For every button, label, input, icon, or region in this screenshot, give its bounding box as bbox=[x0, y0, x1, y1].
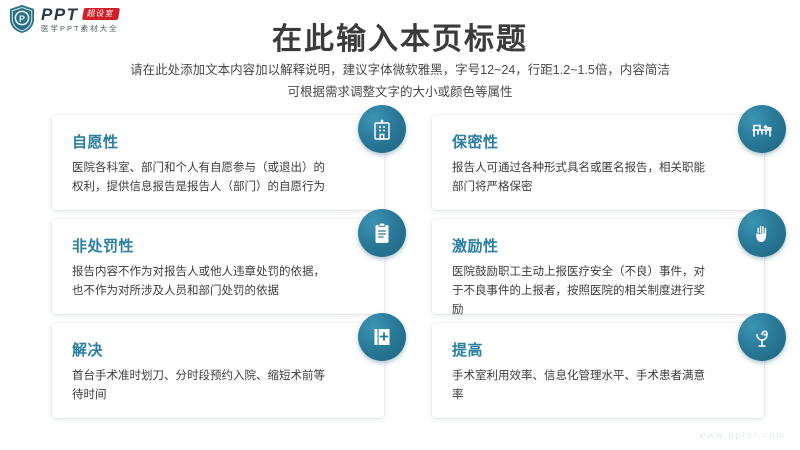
card-title: 自愿性 bbox=[72, 131, 332, 152]
card-item[interactable]: 非处罚性 报告内容不作为对报告人或他人违章处罚的依据，也不作为对所涉及人员和部门… bbox=[52, 219, 384, 314]
open-hand-icon bbox=[738, 209, 786, 257]
clipboard-icon bbox=[358, 209, 406, 257]
card-item[interactable]: 自愿性 医院各科室、部门和个人有自愿参与（或退出）的权利，提供信息报告是报告人（… bbox=[52, 115, 384, 210]
subtitle-line-2: 可根据需求调整文字的大小或颜色等属性 bbox=[0, 82, 800, 104]
card-body: 报告人可通过各种形式具名或匿名报告，相关职能部门将严格保密 bbox=[452, 159, 712, 197]
hospital-building-icon bbox=[358, 105, 406, 153]
card-item[interactable]: 解决 首台手术准时划刀、分时段预约入院、缩短术前等待时间 bbox=[52, 323, 384, 418]
bowl-of-hygieia-icon bbox=[738, 313, 786, 361]
page-subtitle: 请在此处添加文本内容加以解释说明，建议字体微软雅黑，字号12~24，行距1.2~… bbox=[0, 60, 800, 104]
card-body: 报告内容不作为对报告人或他人违章处罚的依据，也不作为对所涉及人员和部门处罚的依据 bbox=[72, 263, 332, 301]
card-body: 医院鼓励职工主动上报医疗安全（不良）事件，对于不良事件的上报者，按照医院的相关制… bbox=[452, 263, 712, 320]
card-title: 激励性 bbox=[452, 235, 712, 256]
card-item[interactable]: 提高 手术室利用效率、信息化管理水平、手术患者满意率 bbox=[432, 323, 764, 418]
card-title: 非处罚性 bbox=[72, 235, 332, 256]
card-title: 保密性 bbox=[452, 131, 712, 152]
card-title: 解决 bbox=[72, 339, 332, 360]
card-body: 手术室利用效率、信息化管理水平、手术患者满意率 bbox=[452, 367, 712, 405]
page-title: 在此输入本页标题 bbox=[0, 14, 800, 58]
medical-book-icon bbox=[358, 313, 406, 361]
card-item[interactable]: 激励性 医院鼓励职工主动上报医疗安全（不良）事件，对于不良事件的上报者，按照医院… bbox=[432, 219, 764, 314]
card-item[interactable]: 保密性 报告人可通过各种形式具名或匿名报告，相关职能部门将严格保密 bbox=[432, 115, 764, 210]
card-title: 提高 bbox=[452, 339, 712, 360]
card-grid: 自愿性 医院各科室、部门和个人有自愿参与（或退出）的权利，提供信息报告是报告人（… bbox=[52, 115, 764, 425]
footer-watermark: www.ppter.com bbox=[699, 430, 786, 440]
card-body: 医院各科室、部门和个人有自愿参与（或退出）的权利，提供信息报告是报告人（部门）的… bbox=[72, 159, 332, 197]
card-body: 首台手术准时划刀、分时段预约入院、缩短术前等待时间 bbox=[72, 367, 332, 405]
subtitle-line-1: 请在此处添加文本内容加以解释说明，建议字体微软雅黑，字号12~24，行距1.2~… bbox=[0, 60, 800, 82]
hospital-bed-icon bbox=[738, 105, 786, 153]
